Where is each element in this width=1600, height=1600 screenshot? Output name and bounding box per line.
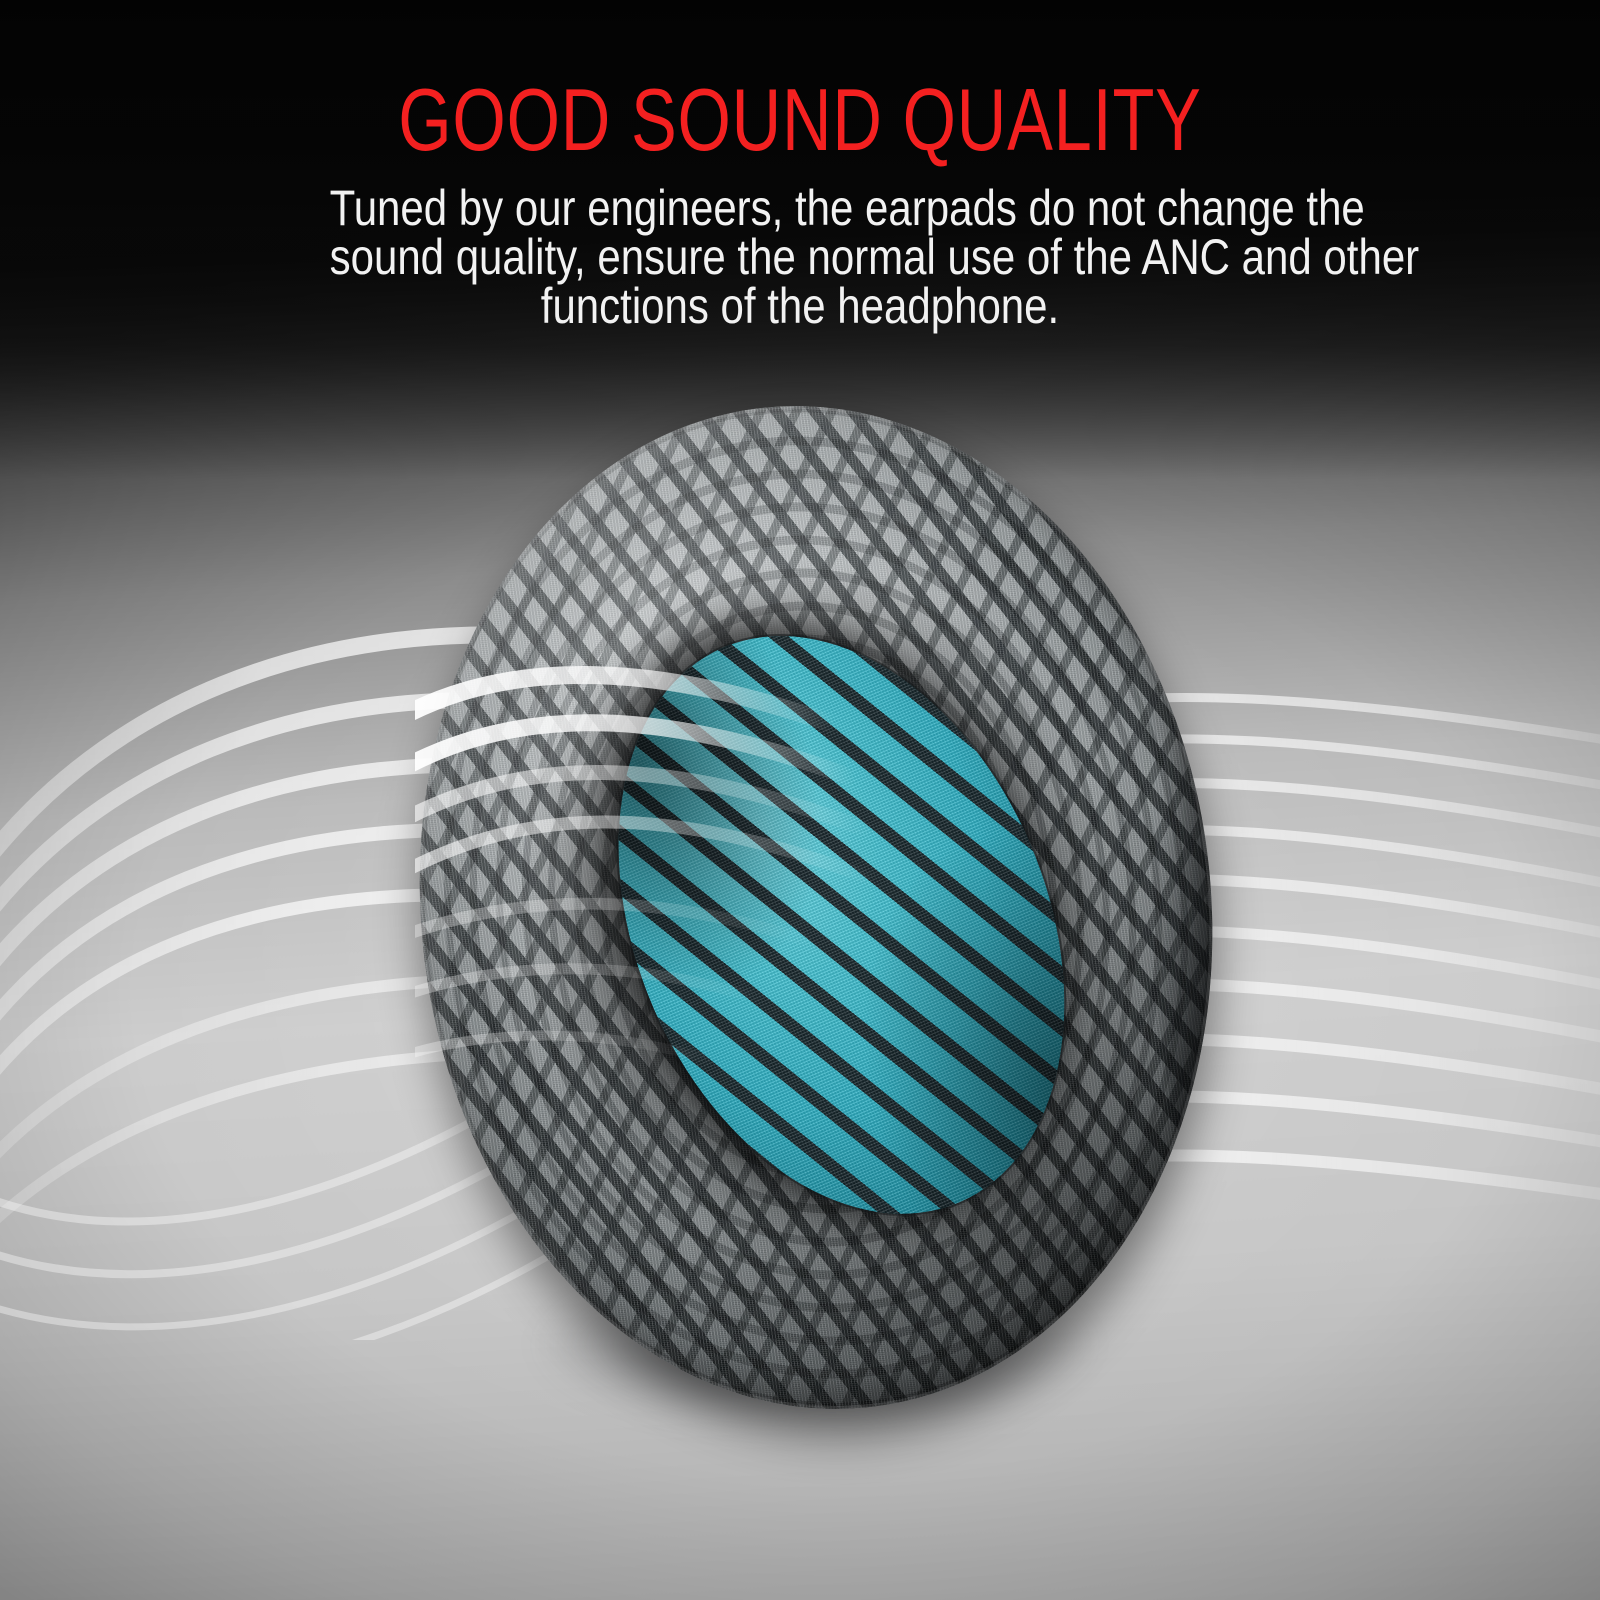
description-line-1: Tuned by our engineers, the earpads do n…: [330, 184, 1271, 233]
description-line-3: functions of the headphone.: [330, 282, 1271, 331]
product-description: Tuned by our engineers, the earpads do n…: [330, 184, 1271, 331]
page-title: GOOD SOUND QUALITY: [176, 74, 1424, 166]
description-line-2: sound quality, ensure the normal use of …: [330, 233, 1271, 282]
product-feature-banner: GOOD SOUND QUALITY Tuned by our engineer…: [0, 0, 1600, 1600]
earpad-product: [415, 395, 1215, 1440]
earpad-body: [371, 366, 1262, 1448]
